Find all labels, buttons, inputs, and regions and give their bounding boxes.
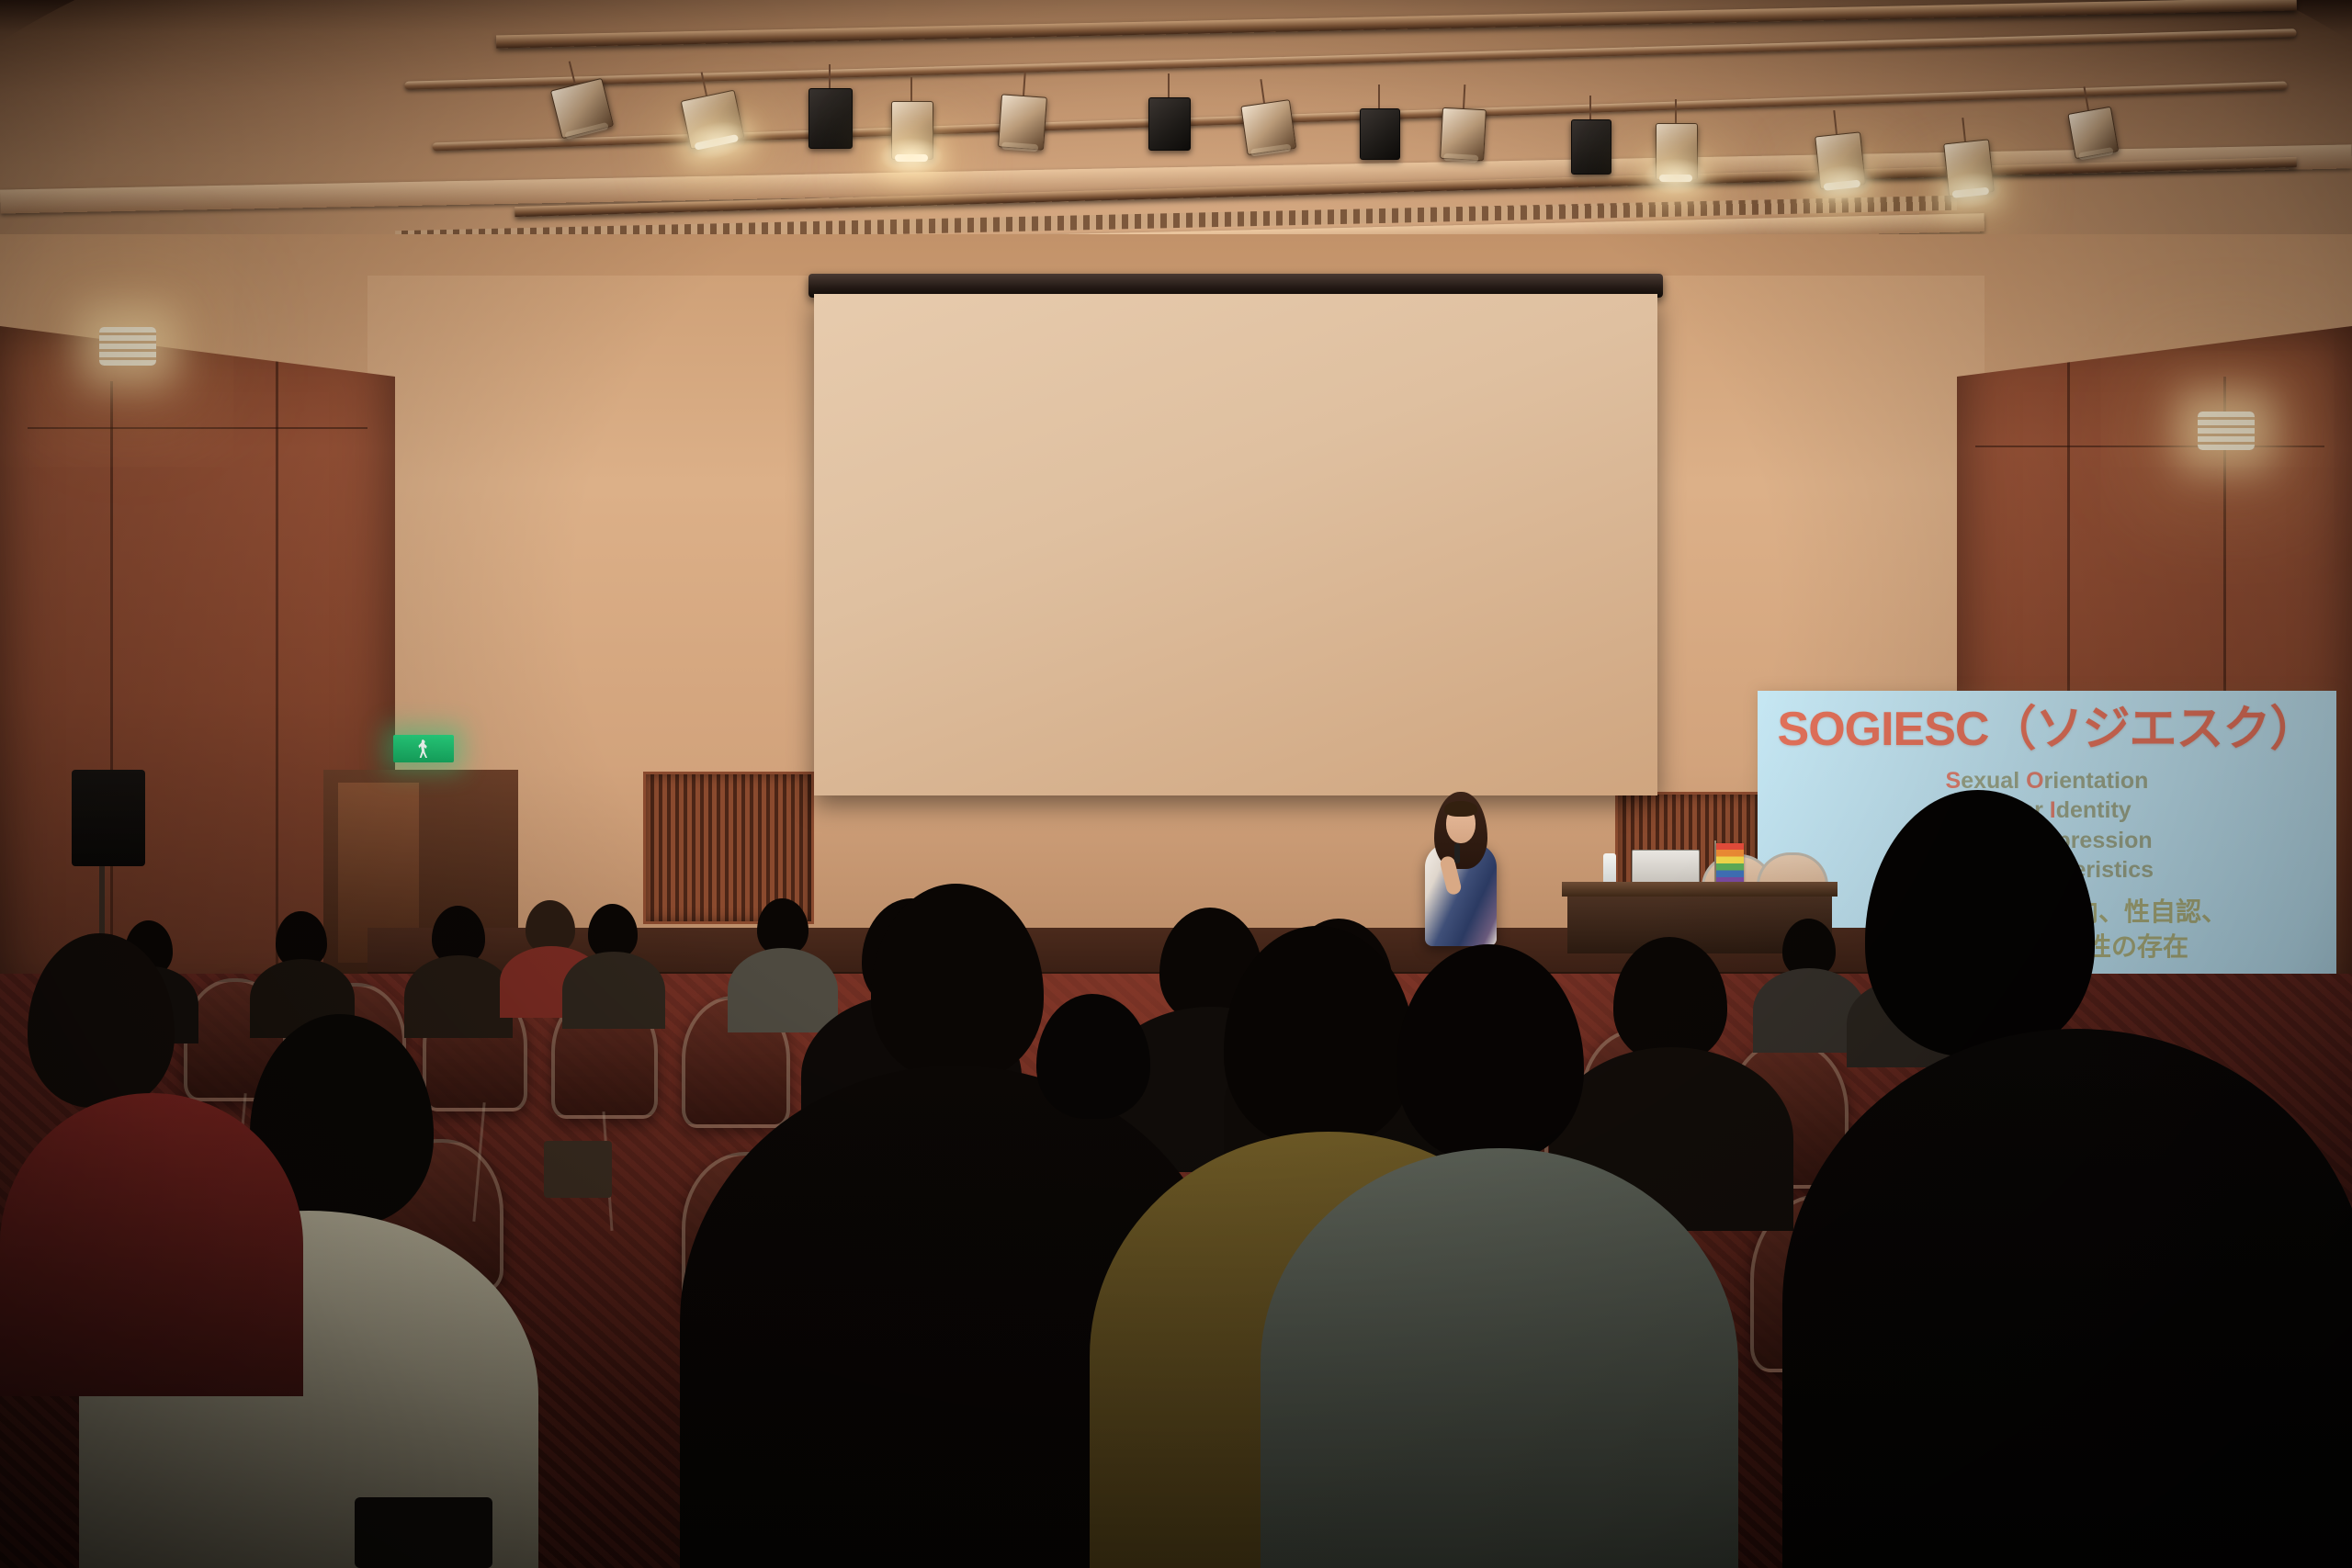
acronym-row-sexual-orientation: Sexual Orientation	[1758, 766, 2336, 795]
lecture-hall-photo: SOGIESC（ソジエスク） Sexual Orientation Gender…	[0, 0, 2352, 1568]
stage-light-10	[1571, 119, 1610, 173]
stage-light-6	[1148, 97, 1189, 149]
presenter-fringe	[1444, 801, 1477, 817]
pa-speaker-cabinet	[72, 770, 145, 866]
audience-head	[588, 904, 638, 959]
stage-light-11	[1656, 123, 1696, 178]
stage-light-14	[2067, 107, 2117, 157]
rainbow-pride-flag	[1716, 843, 1744, 884]
audience-shoulders	[728, 948, 838, 1032]
audience-shoulders-left	[0, 1093, 303, 1396]
stage-table	[1562, 882, 1837, 897]
water-bottle	[1603, 853, 1616, 885]
slide-title: SOGIESC（ソジエスク）	[1758, 705, 2336, 753]
exit-sign-left	[393, 735, 454, 762]
stage-light-3	[808, 88, 851, 147]
stage-light-4	[891, 101, 932, 158]
laptop	[1632, 850, 1700, 885]
projection-screen: SOGIESC（ソジエスク） Sexual Orientation Gender…	[814, 294, 1657, 795]
presenter	[1419, 792, 1502, 943]
wall-sconce-left	[99, 327, 156, 366]
stage-light-12	[1815, 131, 1864, 187]
bag	[355, 1497, 492, 1568]
audience-shoulders	[562, 952, 665, 1029]
audience-shoulders-foreground-right	[1782, 1029, 2352, 1568]
audience-shoulders-foreground	[1261, 1148, 1738, 1568]
stage-light-7	[1240, 99, 1295, 153]
stage-light-5	[998, 94, 1046, 148]
wall-sconce-right	[2198, 412, 2255, 450]
audience-shoulders	[404, 955, 513, 1038]
bag	[544, 1141, 612, 1198]
running-person-icon	[418, 739, 429, 758]
stage-light-2	[681, 90, 743, 148]
audience-head	[757, 898, 808, 955]
stage-light-13	[1943, 139, 1993, 195]
microphone	[1454, 843, 1460, 863]
stage-light-9	[1440, 107, 1485, 159]
stage-light-8	[1360, 108, 1398, 158]
